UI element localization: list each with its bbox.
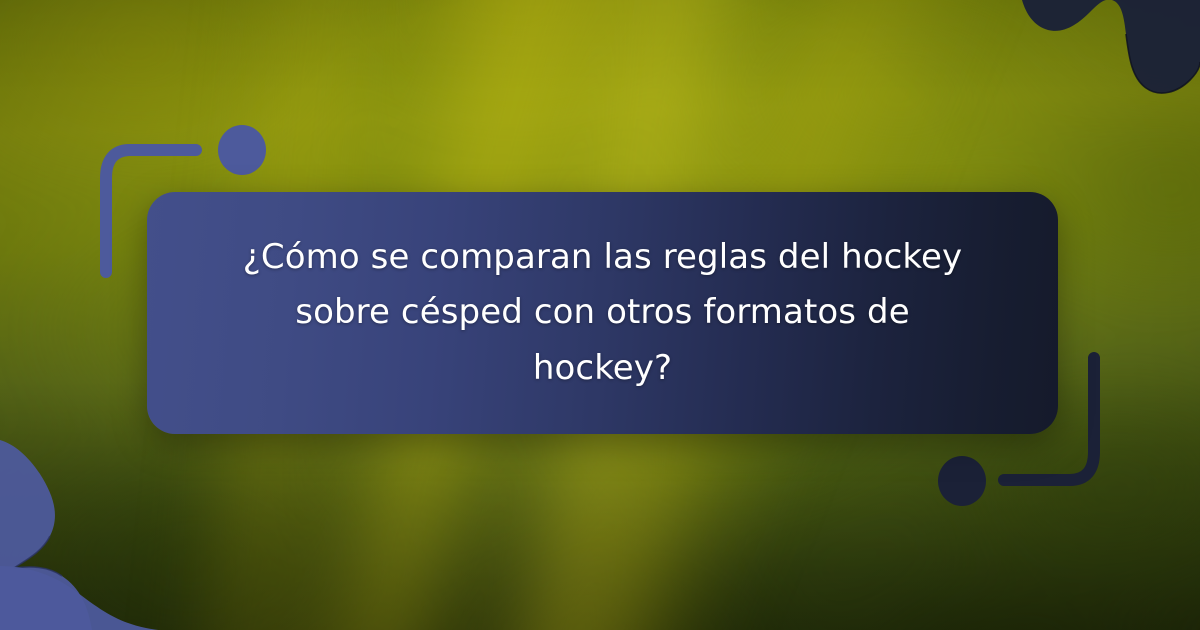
- question-text: ¿Cómo se comparan las reglas del hockey …: [233, 230, 973, 395]
- social-card-canvas: ¿Cómo se comparan las reglas del hockey …: [0, 0, 1200, 630]
- question-card: ¿Cómo se comparan las reglas del hockey …: [147, 192, 1058, 434]
